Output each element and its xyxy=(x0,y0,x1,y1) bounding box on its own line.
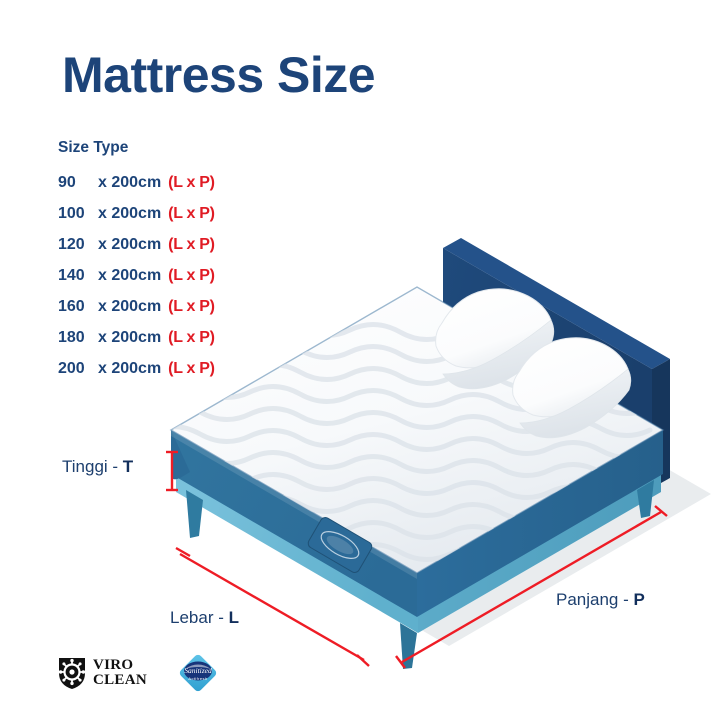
length-marker xyxy=(396,506,667,668)
bed-leg xyxy=(637,480,654,518)
size-unit: (L x P) xyxy=(168,229,215,260)
size-dimension: x 200cm xyxy=(98,260,161,291)
size-width: 120 xyxy=(58,229,94,260)
dimension-markers xyxy=(166,452,667,668)
size-row: 120 x 200cm (L x P) xyxy=(58,229,318,260)
page-title: Mattress Size xyxy=(62,46,375,104)
viro-clean-line2: CLEAN xyxy=(93,673,147,688)
length-label: Panjang - P xyxy=(556,590,645,610)
size-row: 180 x 200cm (L x P) xyxy=(58,322,318,353)
size-dimension: x 200cm xyxy=(98,167,161,198)
size-unit: (L x P) xyxy=(168,167,215,198)
mattress-brand-badge xyxy=(306,516,373,575)
viro-clean-line1: VIRO xyxy=(93,658,147,673)
size-dimension: x 200cm xyxy=(98,353,161,384)
pillow-right xyxy=(513,338,631,438)
size-unit: (L x P) xyxy=(168,260,215,291)
size-unit: (L x P) xyxy=(168,291,215,322)
size-dimension: x 200cm xyxy=(98,198,161,229)
height-label: Tinggi - T xyxy=(62,457,133,477)
width-label: Lebar - L xyxy=(170,608,239,628)
sanitized-diamond-badge: Sanitized Actifresh xyxy=(175,650,221,696)
length-label-text: Panjang - xyxy=(556,590,629,609)
size-row: 160 x 200cm (L x P) xyxy=(58,291,318,322)
width-marker xyxy=(176,548,369,666)
headboard xyxy=(443,238,670,488)
height-marker xyxy=(166,452,178,490)
size-width: 200 xyxy=(58,353,94,384)
size-width: 140 xyxy=(58,260,94,291)
length-label-key: P xyxy=(634,590,645,609)
size-width: 100 xyxy=(58,198,94,229)
bed-leg xyxy=(186,490,203,538)
viro-clean-wordmark: VIRO CLEAN xyxy=(93,658,147,688)
certification-logos: VIRO CLEAN Sanitized Actifresh xyxy=(57,650,221,696)
bed-legs xyxy=(186,480,654,669)
size-type-list: Size Type 90 x 200cm (L x P) 100 x 200cm… xyxy=(58,138,318,384)
mattress-size-infographic: Mattress Size Size Type 90 x 200cm (L x … xyxy=(0,0,726,726)
size-unit: (L x P) xyxy=(168,198,215,229)
height-label-key: T xyxy=(123,457,133,476)
sanitized-badge: Sanitized Actifresh xyxy=(175,650,221,696)
size-width: 180 xyxy=(58,322,94,353)
size-dimension: x 200cm xyxy=(98,229,161,260)
size-unit: (L x P) xyxy=(168,322,215,353)
size-type-heading: Size Type xyxy=(58,138,318,158)
size-dimension: x 200cm xyxy=(98,291,161,322)
size-width: 160 xyxy=(58,291,94,322)
bed-leg xyxy=(400,623,417,669)
pillow-left xyxy=(436,289,554,389)
size-row: 200 x 200cm (L x P) xyxy=(58,353,318,384)
width-label-text: Lebar - xyxy=(170,608,224,627)
sanitized-label: Sanitized xyxy=(184,666,212,675)
width-label-key: L xyxy=(229,608,239,627)
size-unit: (L x P) xyxy=(168,353,215,384)
size-dimension: x 200cm xyxy=(98,322,161,353)
sanitized-sublabel: Actifresh xyxy=(188,676,207,681)
size-row: 140 x 200cm (L x P) xyxy=(58,260,318,291)
size-row: 90 x 200cm (L x P) xyxy=(58,167,318,198)
shield-virus-icon xyxy=(57,656,87,690)
viro-clean-logo: VIRO CLEAN xyxy=(57,656,147,690)
height-label-text: Tinggi - xyxy=(62,457,118,476)
size-width: 90 xyxy=(58,167,94,198)
size-row: 100 x 200cm (L x P) xyxy=(58,198,318,229)
